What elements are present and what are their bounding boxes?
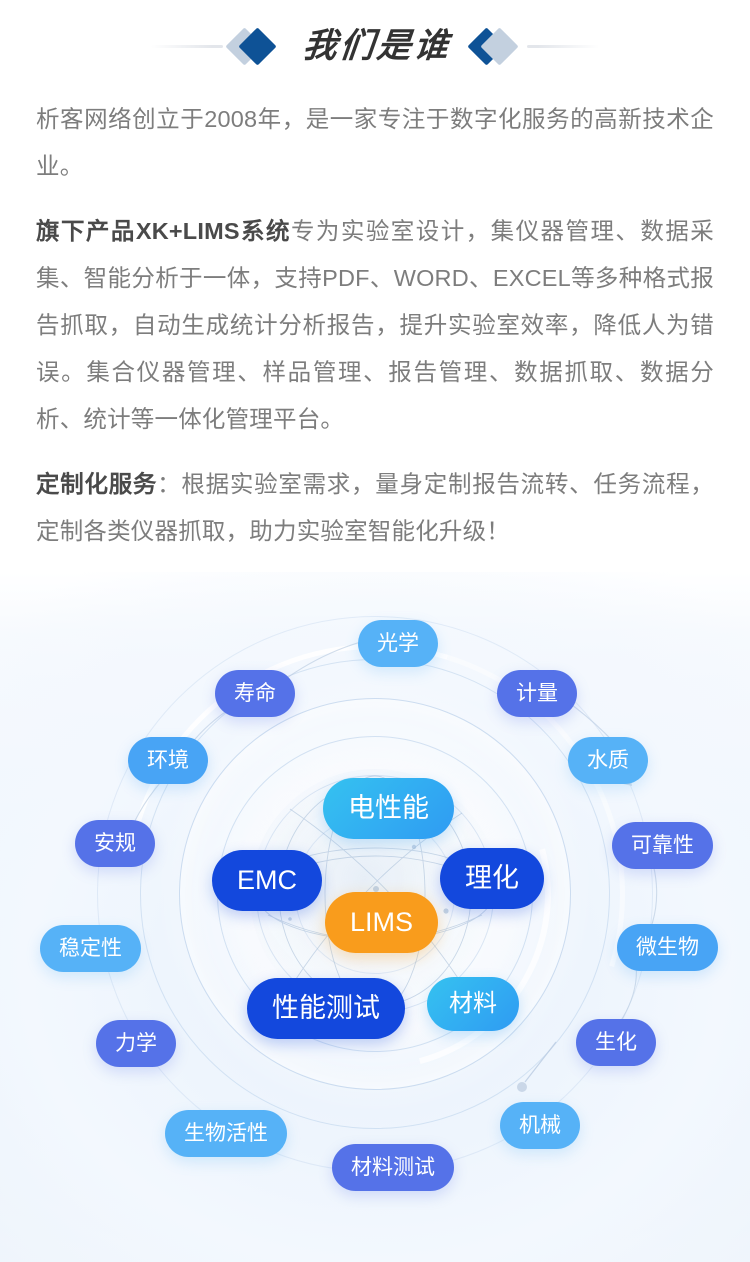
tag-pill[interactable]: 力学 [96, 1020, 176, 1067]
tag-pill[interactable]: 性能测试 [247, 978, 405, 1039]
diamond-pair-icon-left [223, 26, 285, 66]
tag-pill[interactable]: 生化 [576, 1019, 656, 1066]
tag-pill[interactable]: 材料测试 [332, 1144, 454, 1191]
tag-pill[interactable]: 安规 [75, 820, 155, 867]
tag-pill[interactable]: 机械 [500, 1102, 580, 1149]
tag-pill[interactable]: EMC [212, 850, 322, 911]
paragraph-custom-lead: 定制化服务 [36, 471, 157, 497]
tag-pill[interactable]: 理化 [440, 848, 544, 909]
header-rule-left [151, 45, 223, 48]
tag-cloud-hero: 光学寿命计量环境水质电性能安规可靠性EMC理化LIMS稳定性微生物性能测试材料生… [0, 572, 750, 1262]
header-rule-right [527, 45, 599, 48]
section-header: 我们是谁 [0, 0, 750, 92]
tag-pill[interactable]: 电性能 [323, 778, 454, 839]
tag-pill[interactable]: 稳定性 [40, 925, 141, 972]
paragraph-custom: 定制化服务：根据实验室需求，量身定制报告流转、任务流程，定制各类仪器抓取，助力实… [36, 461, 714, 555]
tag-pill[interactable]: 材料 [427, 977, 519, 1031]
paragraph-intro-text: 析客网络创立于2008年，是一家专注于数字化服务的高新技术企业。 [36, 106, 714, 179]
paragraph-product-lead: 旗下产品XK+LIMS系统 [36, 218, 291, 244]
tag-pill[interactable]: 可靠性 [612, 822, 713, 869]
tag-pill[interactable]: 水质 [568, 737, 648, 784]
tag-pill[interactable]: LIMS [325, 892, 438, 953]
landing-page: 我们是谁 析客网络创立于2008年，是一家专注于数字化服务的高新技术企业。 旗下… [0, 0, 750, 1262]
tag-pill[interactable]: 寿命 [215, 670, 295, 717]
paragraph-product-text: 专为实验室设计，集仪器管理、数据采集、智能分析于一体，支持PDF、WORD、EX… [36, 218, 714, 432]
paragraph-product: 旗下产品XK+LIMS系统专为实验室设计，集仪器管理、数据采集、智能分析于一体，… [36, 208, 714, 443]
tag-pill[interactable]: 计量 [497, 670, 577, 717]
tag-pill[interactable]: 微生物 [617, 924, 718, 971]
page-title: 我们是谁 [283, 29, 467, 63]
diamond-pair-icon-right [465, 26, 527, 66]
paragraph-intro: 析客网络创立于2008年，是一家专注于数字化服务的高新技术企业。 [36, 96, 714, 190]
tag-pill[interactable]: 生物活性 [165, 1110, 287, 1157]
tag-pill[interactable]: 光学 [358, 620, 438, 667]
about-copy: 析客网络创立于2008年，是一家专注于数字化服务的高新技术企业。 旗下产品XK+… [0, 92, 750, 555]
tag-pill[interactable]: 环境 [128, 737, 208, 784]
